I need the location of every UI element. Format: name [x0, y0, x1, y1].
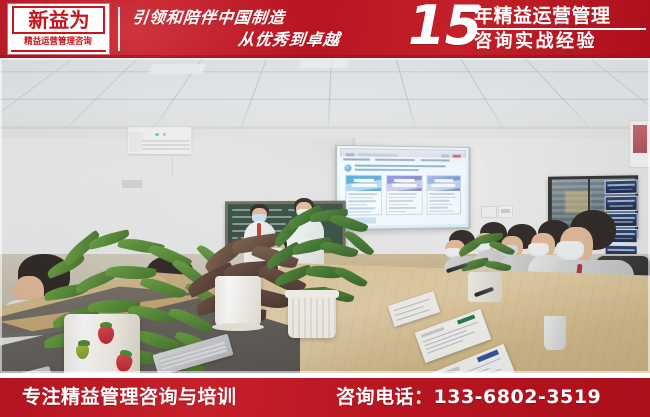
slide-card-2: [386, 175, 422, 215]
promo-banner-image: 新益为 精益运营管理咨询 引领和陪伴中国制造 从优秀到卓越 15 年精益运营管理…: [0, 0, 650, 417]
experience-number: 15: [408, 0, 481, 53]
logo-brand-box: 新益为: [12, 6, 105, 34]
strawberry-motif: [76, 344, 89, 359]
air-conditioner-led-green: [155, 133, 159, 136]
footer-tagline: 专注精益管理咨询与培训: [22, 378, 237, 417]
experience-line-2: 咨询实战经验: [474, 30, 646, 54]
ceiling-lamp-1: [148, 64, 206, 74]
strawberry-motif: [114, 353, 133, 373]
wall-sign: [481, 206, 497, 218]
experience-lines: 年精益运营管理 咨询实战经验: [474, 4, 646, 54]
header-slogan: 引领和陪伴中国制造 从优秀到卓越: [130, 5, 395, 55]
logo-tagline-box: 精益运营管理咨询: [11, 35, 106, 49]
header-banner: 新益为 精益运营管理咨询 引领和陪伴中国制造 从优秀到卓越 15 年精益运营管理…: [0, 0, 650, 58]
logo-underline: [11, 50, 106, 52]
ceiling-fade: [0, 98, 650, 138]
air-conditioner-panel: [129, 132, 143, 152]
slide-heading: [344, 163, 462, 172]
plant-pot-small: [468, 272, 502, 302]
air-conditioner-cord: [172, 154, 173, 176]
wall-poster: [629, 120, 650, 168]
plant-pot-white: [215, 276, 261, 328]
slide-card-3: [426, 175, 461, 215]
logo-tagline-text: 精益运营管理咨询: [25, 37, 93, 47]
air-conditioner-led-grey: [163, 133, 166, 136]
strawberry-motif: [98, 326, 114, 344]
ribbed-plant-pot: [288, 294, 336, 338]
ceiling-edge: [0, 126, 650, 129]
slogan-line-2: 从优秀到卓越: [237, 31, 341, 49]
slide-bullet-icon: [344, 164, 351, 171]
footer-bar: 专注精益管理咨询与培训 咨询电话：133-6802-3519: [0, 378, 650, 417]
training-photo: [0, 58, 650, 373]
header-divider: [118, 7, 120, 51]
experience-block: 15 年精益运营管理 咨询实战经验: [408, 2, 646, 57]
wall-switch-plate: [498, 205, 513, 218]
experience-line-1: 年精益运营管理: [474, 4, 646, 28]
company-logo: 新益为 精益运营管理咨询: [8, 4, 109, 54]
ceiling-lamp-2: [299, 60, 349, 68]
plaque-item: [605, 180, 638, 195]
footer-phone[interactable]: 咨询电话：133-6802-3519: [336, 378, 601, 417]
logo-brand-text: 新益为: [28, 10, 89, 30]
water-cup: [544, 316, 566, 350]
plaque-item: [605, 196, 638, 211]
wall-mark: [122, 180, 142, 188]
strawberry-planter-pot: [64, 314, 140, 373]
slogan-line-1: 引领和陪伴中国制造: [131, 9, 286, 27]
air-conditioner-vent: [142, 140, 190, 152]
